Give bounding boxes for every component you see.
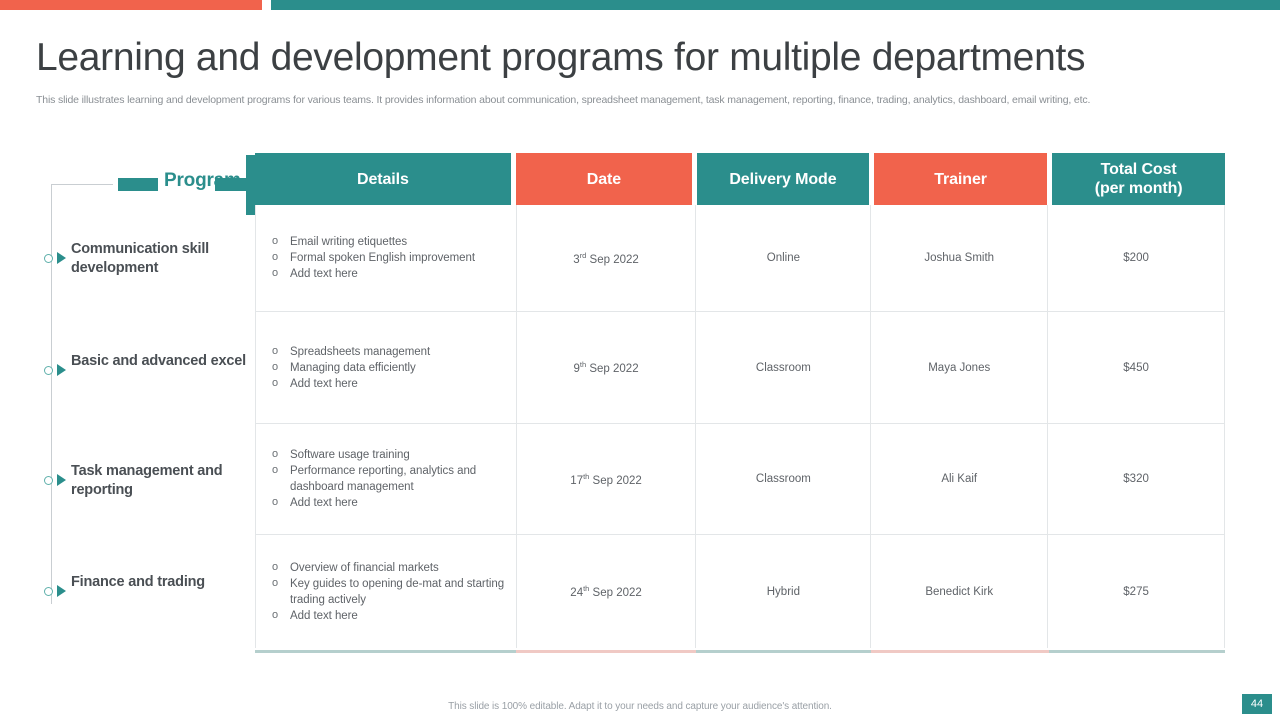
total-cost-line2: (per month) [1095, 179, 1183, 198]
triangle-arrow-icon [57, 474, 66, 486]
circle-marker-icon [44, 254, 53, 263]
table-row[interactable]: Email writing etiquettes Formal spoken E… [256, 205, 1224, 312]
program-item-3[interactable]: Finance and trading [44, 573, 254, 617]
underline-segment-trainer [871, 650, 1048, 653]
detail-bullet: Add text here [266, 608, 508, 624]
cell-details: Email writing etiquettes Formal spoken E… [256, 205, 517, 311]
cell-total-cost: $320 [1048, 424, 1224, 534]
page-subtitle: This slide illustrates learning and deve… [36, 93, 1228, 107]
detail-bullet: Formal spoken English improvement [266, 250, 508, 266]
cell-total-cost: $275 [1048, 535, 1224, 648]
cell-total-cost: $200 [1048, 205, 1224, 311]
triangle-arrow-icon [57, 364, 66, 376]
column-header-date[interactable]: Date [516, 153, 693, 205]
cell-delivery-mode: Hybrid [696, 535, 871, 648]
cell-date: 17th Sep 2022 [517, 424, 697, 534]
detail-bullet: Overview of financial markets [266, 560, 508, 576]
date-month-year: Sep 2022 [586, 253, 638, 265]
cell-delivery-mode: Classroom [696, 424, 871, 534]
underline-segment-cost [1049, 650, 1225, 653]
underline-segment-mode [696, 650, 871, 653]
programs-table: Details Date Delivery Mode Trainer Total… [255, 153, 1225, 648]
cell-delivery-mode: Online [696, 205, 871, 311]
underline-segment-date [516, 650, 696, 653]
detail-bullet: Software usage training [266, 447, 508, 463]
date-month-year: Sep 2022 [586, 363, 638, 375]
program-item-0[interactable]: Communication skill development [44, 240, 254, 284]
cell-date: 3rd Sep 2022 [517, 205, 697, 311]
detail-bullet: Managing data efficiently [266, 360, 508, 376]
cell-trainer: Maya Jones [871, 312, 1048, 423]
table-body: Email writing etiquettes Formal spoken E… [255, 205, 1225, 648]
detail-bullet: Email writing etiquettes [266, 234, 508, 250]
top-accent-bar-coral [0, 0, 262, 10]
cell-date: 9th Sep 2022 [517, 312, 697, 423]
table-bottom-accent [255, 650, 1225, 653]
date-month-year: Sep 2022 [589, 587, 641, 599]
column-header-delivery-mode[interactable]: Delivery Mode [697, 153, 869, 205]
cell-trainer: Ali Kaif [871, 424, 1048, 534]
cell-details: Spreadsheets management Managing data ef… [256, 312, 517, 423]
table-row[interactable]: Software usage training Performance repo… [256, 424, 1224, 535]
detail-bullet: Add text here [266, 495, 508, 511]
top-accent-bar-teal [271, 0, 1280, 10]
page-title: Learning and development programs for mu… [36, 33, 1236, 83]
detail-bullet: Performance reporting, analytics and das… [266, 463, 508, 495]
rail-top-connector [51, 184, 113, 185]
details-bullet-list: Overview of financial markets Key guides… [266, 560, 508, 624]
date-month-year: Sep 2022 [589, 474, 641, 486]
circle-marker-icon [44, 587, 53, 596]
triangle-arrow-icon [57, 252, 66, 264]
cell-trainer: Benedict Kirk [871, 535, 1048, 648]
detail-bullet: Spreadsheets management [266, 344, 508, 360]
detail-bullet: Add text here [266, 266, 508, 282]
program-bar-left-icon [118, 178, 158, 191]
program-item-1[interactable]: Basic and advanced excel [44, 352, 254, 396]
program-item-label: Basic and advanced excel [71, 352, 256, 371]
table-row[interactable]: Overview of financial markets Key guides… [256, 535, 1224, 648]
circle-marker-icon [44, 476, 53, 485]
details-bullet-list: Spreadsheets management Managing data ef… [266, 344, 508, 392]
detail-bullet: Key guides to opening de-mat and startin… [266, 576, 508, 608]
cell-details: Software usage training Performance repo… [256, 424, 517, 534]
circle-marker-icon [44, 366, 53, 375]
underline-segment-details [255, 650, 516, 653]
cell-total-cost: $450 [1048, 312, 1224, 423]
cell-details: Overview of financial markets Key guides… [256, 535, 517, 648]
detail-bullet: Add text here [266, 376, 508, 392]
cell-date: 24th Sep 2022 [517, 535, 697, 648]
details-bullet-list: Software usage training Performance repo… [266, 447, 508, 511]
program-item-label: Task management and reporting [71, 462, 256, 500]
details-bullet-list: Email writing etiquettes Formal spoken E… [266, 234, 508, 282]
table-row[interactable]: Spreadsheets management Managing data ef… [256, 312, 1224, 424]
cell-trainer: Joshua Smith [871, 205, 1048, 311]
column-header-details[interactable]: Details [255, 153, 511, 205]
column-header-total-cost[interactable]: Total Cost (per month) [1052, 153, 1225, 205]
cell-delivery-mode: Classroom [696, 312, 871, 423]
total-cost-line1: Total Cost [1095, 160, 1183, 179]
triangle-arrow-icon [57, 585, 66, 597]
date-day: 24 [570, 587, 583, 599]
date-day: 17 [570, 474, 583, 486]
program-item-label: Finance and trading [71, 573, 256, 592]
column-header-trainer[interactable]: Trainer [874, 153, 1048, 205]
program-item-2[interactable]: Task management and reporting [44, 462, 254, 506]
program-item-label: Communication skill development [71, 240, 256, 278]
table-header-row: Details Date Delivery Mode Trainer Total… [255, 153, 1225, 205]
page-number-badge: 44 [1242, 694, 1272, 714]
footer-note: This slide is 100% editable. Adapt it to… [0, 701, 1280, 712]
